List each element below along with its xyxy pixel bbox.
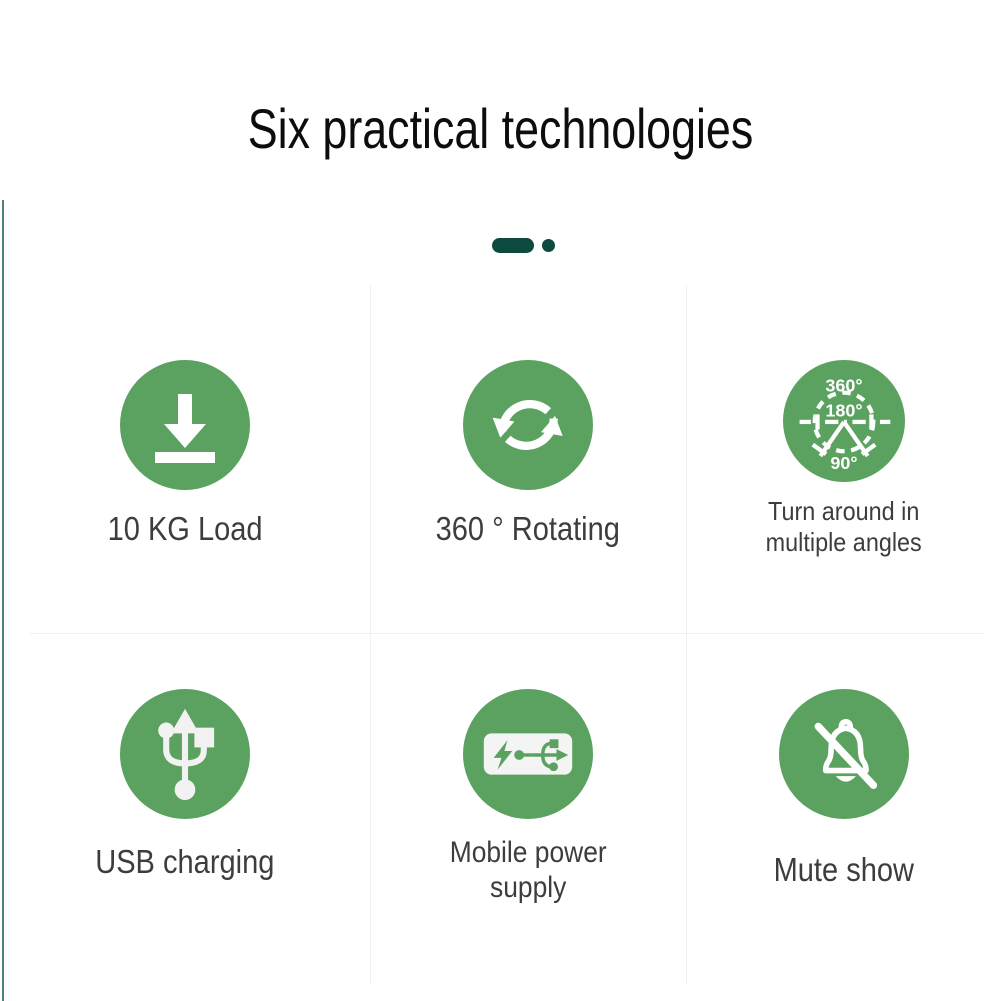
feature-label: Mobile power supply	[449, 835, 606, 905]
feature-item-load: 10 KG Load	[0, 300, 370, 633]
feature-label: USB charging	[95, 843, 274, 881]
feature-grid: 10 KG Load 360 ° Rotating	[0, 300, 1001, 960]
feature-label: 360 ° Rotating	[436, 510, 620, 548]
cropped-logo-remnant	[462, 232, 548, 258]
feature-label: Mute show	[773, 851, 913, 889]
angle-label-90: 90°	[830, 453, 857, 473]
feature-label: 10 KG Load	[107, 510, 262, 548]
bell-muted-icon	[779, 689, 909, 819]
page-title: Six practical technologies	[100, 96, 901, 162]
feature-label: Turn around in multiple angles	[765, 496, 921, 558]
angle-protractor-icon: 360° 180° 90°	[783, 360, 905, 482]
usb-charging-icon	[120, 689, 250, 819]
angle-label-180: 180°	[825, 400, 862, 420]
rotate-360-icon	[463, 360, 593, 490]
feature-item-rotating: 360 ° Rotating	[370, 300, 686, 633]
feature-item-power-supply: Mobile power supply	[370, 633, 686, 960]
power-bank-icon	[463, 689, 593, 819]
logo-capsule-shape	[492, 238, 534, 253]
download-load-icon	[120, 360, 250, 490]
feature-item-angles: 360° 180° 90° Turn around in multiple an…	[686, 300, 1001, 633]
feature-item-usb-charging: USB charging	[0, 633, 370, 960]
logo-dot-shape	[542, 239, 555, 252]
feature-item-mute: Mute show	[686, 633, 1001, 960]
feature-highlight-page: Six practical technologies 10 KG Load	[0, 0, 1001, 1001]
angle-label-360: 360°	[825, 376, 862, 396]
